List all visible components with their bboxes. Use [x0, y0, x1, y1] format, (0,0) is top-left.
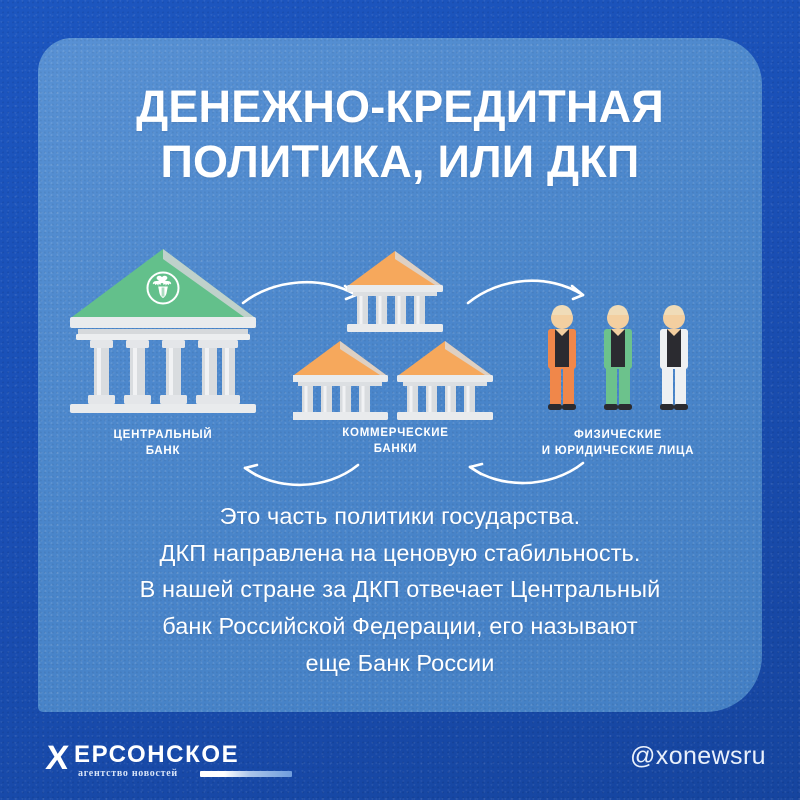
- commercial-banks-label: КОММЕРЧЕСКИЕ БАНКИ: [281, 426, 511, 458]
- central-bank-label-line-1: ЦЕНТРАЛЬНЫЙ: [114, 429, 213, 441]
- page-title: ДЕНЕЖНО-КРЕДИТНАЯ ПОЛИТИКА, ИЛИ ДКП: [38, 80, 762, 190]
- commercial-banks-label-line-2: БАНКИ: [374, 443, 417, 455]
- content-card: ДЕНЕЖНО-КРЕДИТНАЯ ПОЛИТИКА, ИЛИ ДКП: [38, 38, 762, 712]
- body-line-2: ДКП направлена на ценовую стабильность.: [38, 535, 762, 572]
- commercial-bank-2: [293, 341, 388, 420]
- person-green: [604, 305, 632, 410]
- diagram-node-individuals-and-legal-entities: ФИЗИЧЕСКИЕ И ЮРИДИЧЕСКИЕ ЛИЦА: [518, 303, 718, 433]
- diagram-node-central-bank: ЦЕНТРАЛЬНЫЙ БАНК: [68, 243, 258, 428]
- social-handle[interactable]: @xonewsru: [630, 742, 766, 771]
- commercial-bank-1: [347, 251, 443, 332]
- people-illustration: [518, 303, 718, 428]
- logo-subtitle: агентство новостей: [78, 768, 178, 779]
- body-line-3: В нашей стране за ДКП отвечает Центральн…: [38, 571, 762, 608]
- body-line-1: Это часть политики государства.: [38, 498, 762, 535]
- logo-wordmark: ЕРСОНСКОЕ: [74, 742, 239, 768]
- arrow-people-to-commercial: [470, 463, 583, 483]
- arrow-commercial-to-cb-head: [245, 465, 257, 475]
- central-bank-entablature: [70, 317, 256, 328]
- central-bank-base: [70, 404, 256, 413]
- commercial-bank-3: [397, 341, 493, 420]
- money-flow-diagram: ЦЕНТРАЛЬНЫЙ БАНК: [38, 233, 762, 503]
- people-label-line-2: И ЮРИДИЧЕСКИЕ ЛИЦА: [542, 445, 694, 457]
- body-text: Это часть политики государства. ДКП напр…: [38, 498, 762, 681]
- central-bank-label-line-2: БАНК: [146, 445, 180, 457]
- body-line-5: еще Банк России: [38, 645, 762, 682]
- commercial-banks-label-line-1: КОММЕРЧЕСКИЕ: [342, 427, 448, 439]
- logo-accent-bar: [200, 771, 292, 777]
- logo-x-mark: X: [45, 741, 71, 775]
- person-orange: [548, 305, 576, 410]
- person-white: [660, 305, 688, 410]
- commercial-banks-illustration: [293, 241, 498, 421]
- title-line-1: ДЕНЕЖНО-КРЕДИТНАЯ: [38, 80, 762, 135]
- people-label-line-1: ФИЗИЧЕСКИЕ: [574, 429, 662, 441]
- central-bank-label: ЦЕНТРАЛЬНЫЙ БАНК: [48, 428, 278, 460]
- infographic-poster: ДЕНЕЖНО-КРЕДИТНАЯ ПОЛИТИКА, ИЛИ ДКП: [0, 0, 800, 800]
- arrow-commercial-to-cb: [245, 465, 358, 485]
- brand-logo[interactable]: X ЕРСОНСКОЕ агентство новостей: [40, 742, 270, 788]
- arrow-commercial-to-people-head: [572, 286, 583, 299]
- title-line-2: ПОЛИТИКА, ИЛИ ДКП: [38, 135, 762, 190]
- arrow-people-to-commercial-head: [470, 464, 482, 474]
- central-bank-columns: [88, 340, 240, 404]
- diagram-node-commercial-banks: КОММЕРЧЕСКИЕ БАНКИ: [293, 241, 498, 426]
- people-label: ФИЗИЧЕСКИЕ И ЮРИДИЧЕСКИЕ ЛИЦА: [503, 428, 733, 460]
- central-bank-illustration: [68, 243, 258, 423]
- body-line-4: банк Российской Федерации, его называют: [38, 608, 762, 645]
